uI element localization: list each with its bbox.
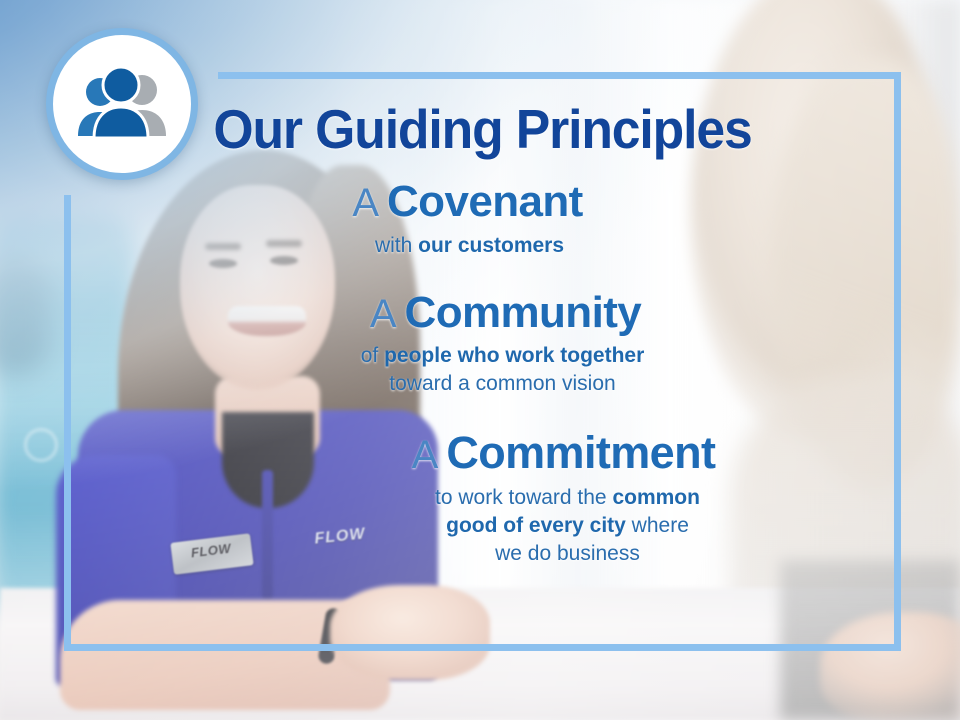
emphasis-text: common [612,486,700,509]
plain-text: toward a common vision [389,372,615,395]
principle-keyword: Covenant [387,177,583,226]
principle-article: A [412,433,439,477]
principle-community: ACommunity of people who work togetherto… [90,290,875,399]
principle-keyword: Community [405,288,642,337]
principle-keyword: Commitment [446,427,715,478]
principle-description: of people who work togethertoward a comm… [110,342,895,398]
content-panel: Our Guiding Principles ACovenant with ou… [64,72,901,651]
plain-text: of [361,344,384,367]
principle-description: to work toward the commongood of every c… [175,484,960,568]
principle-article: A [370,292,397,336]
principle-heading: ACommunity [113,290,898,336]
plain-text: with [375,234,418,257]
plain-text: where [626,514,689,537]
plain-text: we do business [495,542,640,565]
principle-description: with our customers [77,232,862,260]
principle-commitment: ACommitment to work toward the commongoo… [90,430,875,568]
promotional-graphic: FLOW FLOW Our Guiding Principles [0,0,960,720]
emphasis-text: good of every city [446,514,626,537]
emphasis-text: people who work together [384,344,644,367]
plain-text: to work toward the [435,486,612,509]
page-title: Our Guiding Principles [114,102,852,157]
emphasis-text: our customers [418,234,564,257]
principle-article: A [352,181,379,225]
principle-heading: ACommitment [171,430,956,477]
principle-heading: ACovenant [75,179,860,225]
principle-covenant: ACovenant with our customers [90,179,875,260]
